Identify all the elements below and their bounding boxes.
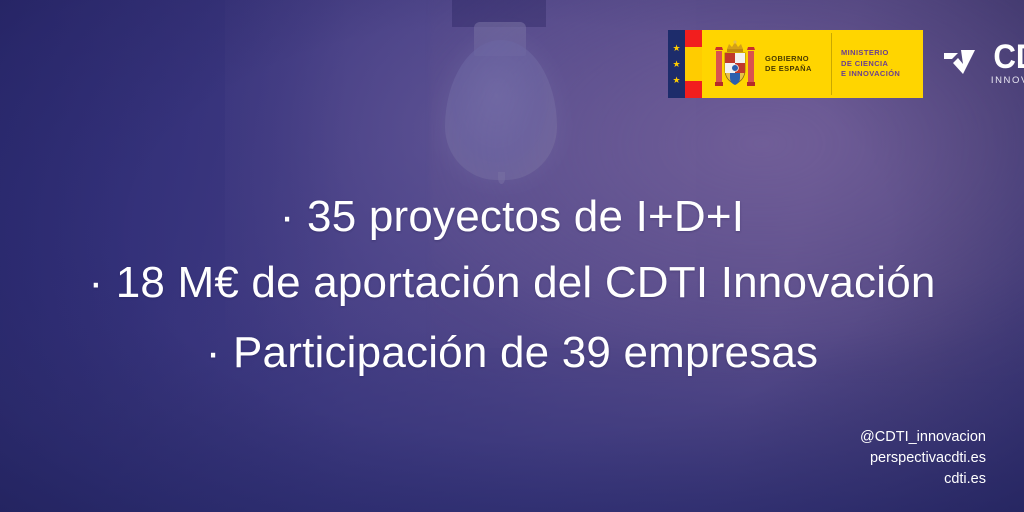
headline-item-funding: · 18 M€ de aportación del CDTI Innovació… [0, 248, 1024, 318]
government-label-line2: DE ESPAÑA [765, 64, 827, 74]
government-ministry-panel: GOBIERNO DE ESPAÑA MINISTERIO DE CIENCIA… [702, 30, 923, 98]
social-handle[interactable]: @CDTI_innovacion [860, 427, 986, 448]
cdti-site[interactable]: cdti.es [860, 469, 986, 490]
ministry-label: MINISTERIO DE CIENCIA E INNOVACIÓN [841, 48, 917, 80]
logo-divider [831, 33, 832, 95]
flag-stripe-gold [685, 47, 702, 81]
headline-item-projects: · 35 proyectos de I+D+I [0, 186, 1024, 248]
spain-coat-of-arms-icon [712, 38, 758, 90]
headline-list: · 35 proyectos de I+D+I · 18 M€ de aport… [0, 186, 1024, 388]
eu-star-icon: ★ [672, 76, 680, 85]
cdti-checkmark-icon [941, 44, 981, 84]
government-label: GOBIERNO DE ESPAÑA [765, 54, 827, 74]
eu-star-icon: ★ [672, 44, 680, 53]
promo-graphic: ★ ★ ★ [0, 0, 1024, 512]
eu-flag-icon: ★ ★ ★ [668, 30, 685, 98]
spain-flag-icon [685, 30, 702, 98]
flag-stripe-red-top [685, 30, 702, 47]
ministry-label-line1: MINISTERIO [841, 48, 917, 59]
cdti-name: CDTI [993, 41, 1024, 73]
government-label-line1: GOBIERNO [765, 54, 827, 64]
flag-stripe-red-bottom [685, 81, 702, 98]
headline-item-companies: · Participación de 39 empresas [0, 318, 1024, 388]
eu-star-icon: ★ [672, 60, 680, 69]
perspectiva-site[interactable]: perspectivacdti.es [860, 448, 986, 469]
ministry-label-line3: E INNOVACIÓN [841, 69, 917, 80]
flag-strip-icon: ★ ★ ★ [668, 30, 702, 98]
ministry-label-line2: DE CIENCIA [841, 59, 917, 70]
institutional-logo-lockup: ★ ★ ★ [668, 28, 1024, 100]
footer-links: @CDTI_innovacion perspectivacdti.es cdti… [860, 427, 986, 490]
cdti-wordmark: CDTI INNOVACIÓN [987, 41, 1024, 87]
cdti-logo: CDTI INNOVACIÓN [941, 30, 1024, 98]
